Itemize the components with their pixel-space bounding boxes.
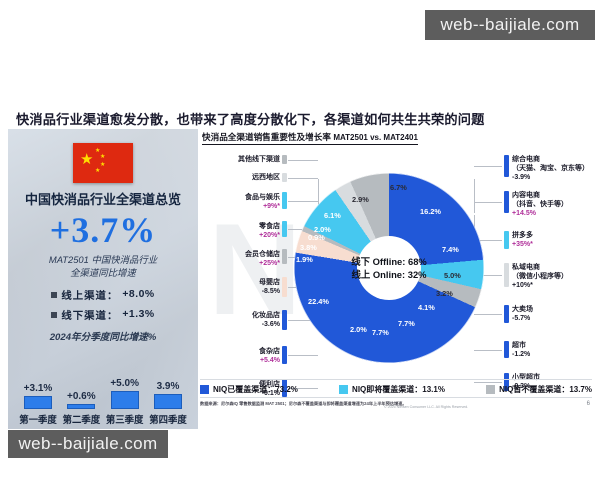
channel-tick	[282, 249, 287, 264]
channel-name: 私域电商	[512, 263, 592, 272]
channel-sublabel: （抖音、快手等）	[512, 200, 592, 209]
channel-tick	[504, 263, 509, 287]
channel-growth: -3.6%	[210, 320, 280, 329]
overview-hero-panel: ★ ★★ ★★ 中国快消品行业全渠道总览 +3.7% MAT2501 中国快消品…	[8, 129, 198, 429]
channel-name: 其他线下渠道	[210, 155, 280, 164]
channel-tick	[282, 155, 287, 164]
channel-name: 食杂店	[210, 347, 280, 356]
channel-name: 食品与娱乐	[210, 193, 280, 202]
left-channel-label: 其他线下渠道	[210, 155, 280, 164]
hero-title: 中国快消品行业全渠道总览	[8, 189, 198, 208]
quarterly-chart-title: 2024年分季度同比增速%	[8, 329, 198, 343]
left-channel-label: 远西地区	[210, 173, 280, 182]
channel-value: +1.3%	[122, 309, 154, 320]
slice-percent-label: 3.8%	[300, 243, 317, 252]
slice-percent-label: 4.1%	[418, 303, 435, 312]
quarter-name: 第一季度	[18, 412, 58, 426]
channel-name: 远西地区	[210, 173, 280, 182]
slice-percent-label: 6.1%	[324, 211, 341, 220]
quarter-bar	[24, 396, 52, 409]
watermark-top: web--baijiale.com	[425, 10, 595, 40]
bullet-square-icon	[51, 292, 57, 298]
page-number: 6	[587, 401, 590, 407]
channel-label: 线上渠道：	[61, 287, 118, 302]
channel-tick	[282, 173, 287, 182]
china-flag-icon: ★ ★★ ★★	[73, 143, 133, 183]
hero-subtitle-line1: MAT2501 中国快消品行业	[8, 253, 198, 266]
channel-growth: +20%*	[210, 231, 280, 240]
channel-name: 母婴店	[210, 278, 280, 287]
channel-name: 综合电商	[512, 155, 592, 164]
legend-swatch	[486, 385, 495, 394]
channel-growth: +25%*	[210, 259, 280, 268]
channel-tick	[504, 191, 509, 213]
quarterly-bar-chart: +3.1% 第一季度 +0.6% 第二季度 +5.0% 第三季度 3.9% 第四…	[18, 351, 188, 426]
slide-canvas: 快消品行业渠道愈发分散，也带来了高度分散化下，各渠道如何共生共荣的问题 ★ ★★…	[0, 47, 600, 417]
left-channel-label: 化妆品店-3.6%	[210, 311, 280, 329]
channel-name: 会员仓储店	[210, 250, 280, 259]
quarter-value: +5.0%	[105, 378, 145, 389]
omnichannel-chart-panel: 快消品全渠道销售重要性及增长率 MAT2501 vs. MAT2401 NIQ …	[198, 129, 594, 429]
right-channel-label: 大卖场-5.7%	[512, 305, 592, 323]
legend-swatch	[200, 385, 209, 394]
watermark-bottom: web--baijiale.com	[8, 430, 168, 458]
channel-growth: -5.7%	[512, 314, 592, 323]
right-channel-label: 内容电商（抖音、快手等）+14.5%	[512, 191, 592, 218]
quarter-value: +3.1%	[18, 383, 58, 394]
channel-growth: +35%*	[512, 240, 592, 249]
chart-legend: NIQ已覆盖渠道：73.2% NIQ即将覆盖渠道：13.1% NIQ暂不覆盖渠道…	[200, 379, 592, 398]
slice-percent-label: 7.4%	[442, 245, 459, 254]
legend-item-upcoming: NIQ即将覆盖渠道：13.1%	[339, 384, 445, 395]
channel-growth: -8.5%	[210, 287, 280, 296]
legend-label: NIQ暂不覆盖渠道：13.7%	[499, 384, 592, 395]
channel-sublabel: （微信小程序等）	[512, 272, 592, 281]
quarter-bar-item: +0.6% 第二季度	[61, 391, 101, 426]
online-share: 线上 Online: 32%	[351, 268, 427, 281]
channel-tick	[282, 346, 287, 364]
chart-title: 快消品全渠道销售重要性及增长率 MAT2501 vs. MAT2401	[202, 131, 418, 145]
slice-percent-label: 5.0%	[444, 271, 461, 280]
slice-percent-label: 16.2%	[420, 207, 441, 216]
legend-label: NIQ即将覆盖渠道：13.1%	[352, 384, 445, 395]
quarter-name: 第二季度	[61, 412, 101, 426]
quarter-bar	[154, 394, 182, 409]
legend-label: NIQ已覆盖渠道：73.2%	[213, 384, 298, 395]
slice-percent-label: 2.0%	[350, 325, 367, 334]
channel-name: 零食店	[210, 222, 280, 231]
channel-tick	[504, 155, 509, 177]
channel-tick	[504, 231, 509, 249]
channel-name: 化妆品店	[210, 311, 280, 320]
page-title: 快消品行业渠道愈发分散，也带来了高度分散化下，各渠道如何共生共荣的问题	[16, 109, 586, 128]
donut-center-annotation: 线下 Offline: 68% 线上 Online: 32%	[351, 255, 427, 281]
quarter-bar-item: +5.0% 第三季度	[105, 378, 145, 426]
channel-value: +8.0%	[122, 289, 154, 300]
slice-percent-label: 0.9%	[308, 233, 325, 242]
channel-tick	[282, 221, 287, 237]
channel-tick	[504, 341, 509, 358]
channel-tick	[282, 277, 287, 297]
channel-growth: -3.9%	[512, 173, 592, 182]
slice-percent-label: 6.7%	[390, 183, 407, 192]
channel-name: 大卖场	[512, 305, 592, 314]
channel-label: 线下渠道：	[61, 307, 118, 322]
channel-growth-list: 线上渠道： +8.0% 线下渠道： +1.3%	[8, 287, 198, 327]
channel-growth: +10%*	[512, 281, 592, 290]
bullet-square-icon	[51, 312, 57, 318]
legend-swatch	[339, 385, 348, 394]
slice-percent-label: 1.9%	[296, 255, 313, 264]
offline-share: 线下 Offline: 68%	[351, 255, 427, 268]
right-channel-label: 私域电商（微信小程序等）+10%*	[512, 263, 592, 290]
right-channel-label: 综合电商（天猫、淘宝、京东等）-3.9%	[512, 155, 592, 182]
right-channel-label: 超市-1.2%	[512, 341, 592, 359]
channel-name: 拼多多	[512, 231, 592, 240]
left-channel-label: 食品与娱乐+9%*	[210, 193, 280, 211]
legend-item-covered: NIQ已覆盖渠道：73.2%	[200, 384, 298, 395]
quarter-bar	[67, 404, 95, 409]
channel-growth: +9%*	[210, 202, 280, 211]
quarter-bar-item: +3.1% 第一季度	[18, 383, 58, 426]
slice-percent-label: 3.2%	[436, 289, 453, 298]
leader-line	[474, 166, 502, 167]
slice-percent-label: 7.7%	[372, 328, 389, 337]
hero-subtitle: MAT2501 中国快消品行业 全渠道同比增速	[8, 253, 198, 279]
donut-chart: 6.7%16.2%7.4%5.0%3.2%4.1%7.7%7.7%2.0%22.…	[294, 173, 484, 363]
quarter-bar	[111, 391, 139, 409]
channel-tick	[282, 310, 287, 330]
quarter-value: +0.6%	[61, 391, 101, 402]
hero-subtitle-line2: 全渠道同比增速	[8, 266, 198, 279]
left-channel-label: 母婴店-8.5%	[210, 278, 280, 296]
legend-item-not-covered: NIQ暂不覆盖渠道：13.7%	[486, 384, 592, 395]
chart-title-cn: 快消品全渠道销售重要性及增长率	[202, 132, 331, 142]
left-channel-label: 会员仓储店+25%*	[210, 250, 280, 268]
quarter-name: 第三季度	[105, 412, 145, 426]
channel-name: 内容电商	[512, 191, 592, 200]
list-item: 线上渠道： +8.0%	[8, 287, 198, 302]
left-channel-label: 零食店+20%*	[210, 222, 280, 240]
slice-percent-label: 2.9%	[352, 195, 369, 204]
channel-sublabel: （天猫、淘宝、京东等）	[512, 164, 592, 173]
channel-tick	[282, 192, 287, 209]
channel-name: 超市	[512, 341, 592, 350]
quarter-name: 第四季度	[148, 412, 188, 426]
hero-growth-value: +3.7%	[8, 209, 198, 251]
channel-growth: +14.5%	[512, 209, 592, 218]
quarter-value: 3.9%	[148, 381, 188, 392]
quarter-bar-item: 3.9% 第四季度	[148, 381, 188, 426]
right-channel-label: 拼多多+35%*	[512, 231, 592, 249]
slice-percent-label: 7.7%	[398, 319, 415, 328]
chart-title-period: MAT2501 vs. MAT2401	[333, 133, 418, 142]
slice-percent-label: 22.4%	[308, 297, 329, 306]
channel-growth: -1.2%	[512, 350, 592, 359]
list-item: 线下渠道： +1.3%	[8, 307, 198, 322]
left-channel-label: 食杂店+5.4%	[210, 347, 280, 365]
copyright-text: © 2025 Nielsen Consumer LLC. All Rights …	[384, 405, 468, 409]
channel-growth: +5.4%	[210, 356, 280, 365]
slice-percent-label: 2.0%	[314, 225, 331, 234]
leader-line	[288, 160, 318, 161]
channel-tick	[504, 305, 509, 323]
